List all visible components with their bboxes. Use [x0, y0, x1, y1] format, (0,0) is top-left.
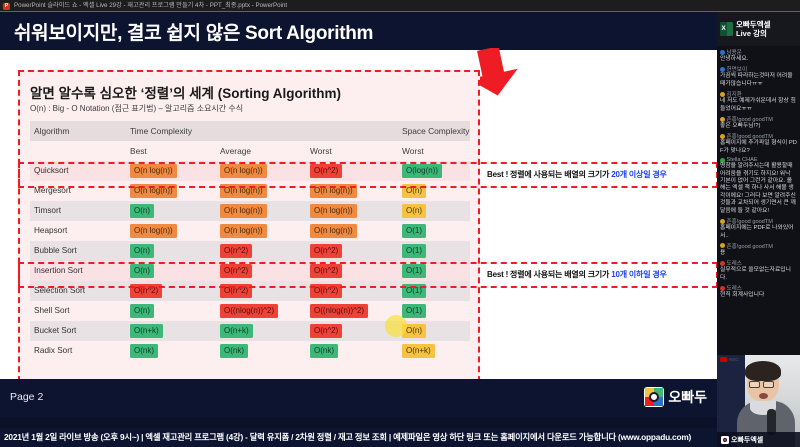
page-number: Page 2 [10, 391, 43, 403]
table-row: MergesortO(n log(n))O(n log(n))O(n log(n… [30, 181, 470, 201]
slide-stage: 쉬워보이지만, 결코 쉽지 않은 Sort Algorithm 알면 알수록 심… [0, 12, 717, 417]
cell-worst-chip: O(n log(n)) [310, 204, 357, 218]
cell-worst: O(n^2) [310, 321, 342, 341]
chat-badge-icon [720, 67, 725, 72]
brand-logo: 오빠두 [644, 387, 707, 407]
chat-message: 헌먼보이가끔씩 따라하는것마저 어려울때가많습니다ㅠㅠ [720, 65, 797, 88]
cell-space: O(n) [402, 201, 426, 221]
th-space-complexity: Space Complexity [402, 121, 470, 141]
cell-average: O(n^2) [220, 281, 252, 301]
table-row: Bubble SortO(n)O(n^2)O(n^2)O(1) [30, 241, 470, 261]
th-average: Average [220, 141, 251, 161]
cell-average: O(n log(n)) [220, 161, 267, 181]
cell-best-chip: O(n^2) [130, 284, 162, 298]
chat-text: 좋은 오빠두님!?) [720, 123, 797, 130]
cell-space: O(n) [402, 181, 426, 201]
cell-average: O(n log(n)) [220, 221, 267, 241]
cell-worst-chip: O(n log(n)) [310, 224, 357, 238]
chat-message: 존흥!good goodTM홈페이지에는 PDF로 나와있어서.. [720, 217, 797, 240]
cell-best: O(n) [130, 241, 154, 261]
table-row: HeapsortO(n log(n))O(n log(n))O(n log(n)… [30, 221, 470, 241]
cell-best: O(n) [130, 301, 154, 321]
cell-worst-chip: O(n^2) [310, 244, 342, 258]
chat-badge-icon [720, 286, 725, 291]
cell-algorithm: Insertion Sort [34, 261, 83, 281]
glasses-left-icon [749, 381, 760, 388]
powerpoint-icon: P [3, 3, 10, 10]
callout-1-highlight: 20개 이상일 경우 [611, 170, 667, 179]
cell-best-chip: O(n log(n)) [130, 184, 177, 198]
cell-best: O(n) [130, 261, 154, 281]
cell-algorithm: Heapsort [34, 221, 67, 241]
chat-message-list[interactable]: 남용운안녕하세요.헌먼보이가끔씩 따라하는것마저 어려울때가많습니다ㅠㅠ김지환네… [717, 46, 800, 300]
cell-space: O(log(n)) [402, 161, 442, 181]
cell-average-chip: O((nlog(n))^2) [220, 304, 278, 318]
cell-space-chip: O(1) [402, 264, 426, 278]
cell-worst: O(nk) [310, 341, 338, 361]
rec-label: REC [729, 357, 739, 362]
chat-badge-icon [720, 92, 725, 97]
webcam-watermark: 오빠두엑셀 [717, 432, 800, 447]
chat-message: 남용운안녕하세요. [720, 48, 797, 63]
cell-algorithm: Bubble Sort [34, 241, 77, 261]
chat-header: 오빠두엑셀 Live 강의 [717, 12, 800, 46]
chat-message: 도레스현직 회계사입니다 [720, 284, 797, 299]
chat-text: 실무적으로 쓸모없는자료입니다. [720, 267, 797, 282]
cell-average: O(nk) [220, 341, 248, 361]
callout-label-1: Best ! 정렬에 사용되는 배열의 크기가 20개 이상일 경우 [487, 169, 667, 180]
chat-username[interactable]: 존흥!good goodTM [727, 217, 773, 225]
cell-worst: O(n log(n)) [310, 201, 357, 221]
cell-space-chip: O(n) [402, 204, 426, 218]
callout-2-highlight: 10개 이하일 경우 [611, 270, 667, 279]
cell-best: O(nk) [130, 341, 158, 361]
callout-2-prefix: Best ! 정렬에 사용되는 배열의 크기가 [487, 270, 611, 279]
cell-average: O(n^2) [220, 241, 252, 261]
oppadu-watermark-icon [721, 436, 729, 444]
cell-best-chip: O(n+k) [130, 324, 163, 338]
cell-best-chip: O(n) [130, 244, 154, 258]
cell-space-chip: O(log(n)) [402, 164, 442, 178]
chat-text: 네 저도 예제가쉬운데서 항상 힘들었어요ㅠㅠ [720, 98, 797, 113]
cell-space-chip: O(1) [402, 244, 426, 258]
cell-best: O(n) [130, 201, 154, 221]
window-title: PowerPoint 슬라이드 쇼 - 엑셀 Live 29강 - 재고관리 프… [14, 2, 287, 9]
chat-badge-icon [720, 158, 725, 163]
cell-worst: O(n^2) [310, 241, 342, 261]
chat-badge-icon [720, 261, 725, 266]
watermark-text: 오빠두엑셀 [731, 435, 763, 445]
chat-badge-icon [720, 134, 725, 139]
cell-average-chip: O(n log(n)) [220, 204, 267, 218]
yellow-click-highlight [385, 315, 407, 337]
cell-best-chip: O(n) [130, 304, 154, 318]
cell-best: O(n+k) [130, 321, 163, 341]
cell-average-chip: O(n^2) [220, 244, 252, 258]
table-row: Radix SortO(nk)O(nk)O(nk)O(n+k) [30, 341, 470, 361]
chat-text: 홈페이지에는 PDF로 나와있어서.. [720, 225, 797, 240]
cell-best-chip: O(n) [130, 264, 154, 278]
cell-average-chip: O(n^2) [220, 284, 252, 298]
chat-text: 안녕하세요. [720, 56, 797, 63]
rec-dot-icon [720, 357, 727, 362]
chat-message-head: 존흥!good goodTM [720, 242, 797, 250]
cell-best-chip: O(n log(n)) [130, 164, 177, 178]
table-header-sub: Best Average Worst Worst [30, 141, 470, 161]
cell-space: O(1) [402, 301, 426, 321]
chat-message: 존흥!good goodTM홈페이지에 추가파일 형식이 PDF가 맞나요? [720, 132, 797, 155]
card-title: 알면 알수록 심오한 ‘정렬’의 세계 (Sorting Algorithm) [30, 82, 341, 102]
brand-name: 오빠두 [668, 387, 707, 407]
chat-header-title: 오빠두엑셀 Live 강의 [736, 20, 771, 38]
chat-badge-icon [720, 50, 725, 55]
cell-space: O(n+k) [402, 341, 435, 361]
th-space-worst: Worst [402, 141, 424, 161]
chat-badge-icon [720, 219, 725, 224]
cell-average-chip: O(n log(n)) [220, 224, 267, 238]
cell-algorithm: Bucket Sort [34, 321, 76, 341]
chat-text: 현직 회계사입니다 [720, 292, 797, 299]
content-card: 알면 알수록 심오한 ‘정렬’의 세계 (Sorting Algorithm) … [18, 70, 480, 392]
table-header-main: Algorithm Time Complexity Space Complexi… [30, 121, 470, 141]
excel-icon [720, 22, 733, 36]
slide-title: 쉬워보이지만, 결코 쉽지 않은 Sort Algorithm [14, 18, 373, 45]
chat-header-line1: 오빠두엑셀 [736, 20, 771, 29]
chat-text: 가끔씩 따라하는것마저 어려울때가많습니다ㅠㅠ [720, 73, 797, 88]
cell-worst: O(n^2) [310, 161, 342, 181]
chat-text: 홈페이지에 추가파일 형식이 PDF가 맞나요? [720, 140, 797, 155]
cell-average: O(n log(n)) [220, 201, 267, 221]
chat-message: 도레스실무적으로 쓸모없는자료입니다. [720, 259, 797, 282]
chat-username[interactable]: 존흥!good goodTM [727, 115, 773, 123]
slide-header: 쉬워보이지만, 결코 쉽지 않은 Sort Algorithm [0, 12, 717, 50]
chat-message-head: 남용운 [720, 48, 797, 56]
th-algorithm: Algorithm [34, 121, 69, 141]
card-subtitle: O(n) : Big - O Notation (점근 표기법) – 알고리즘 … [30, 103, 243, 114]
cell-best: O(n^2) [130, 281, 162, 301]
chat-message-head: 존흥!good goodTM [720, 115, 797, 123]
cell-average: O(n^2) [220, 261, 252, 281]
cell-best: O(n log(n)) [130, 221, 177, 241]
cell-worst-chip: O(n^2) [310, 324, 342, 338]
th-best: Best [130, 141, 147, 161]
cell-average-chip: O(n log(n)) [220, 164, 267, 178]
cell-worst: O(n^2) [310, 281, 342, 301]
cell-average-chip: O(n log(n)) [220, 184, 267, 198]
webcam-overlay[interactable]: REC 오빠두엑셀 [717, 355, 800, 447]
chat-text: 명함을 알려주시는데 활용할때 어려움을 겪기도 하지요! 워낙 기본이 없어 … [720, 163, 797, 215]
cell-worst-chip: O(n^2) [310, 164, 342, 178]
cell-space-chip: O(n+k) [402, 344, 435, 358]
table-row: Insertion SortO(n)O(n^2)O(n^2)O(1) [30, 261, 470, 281]
cell-space: O(1) [402, 281, 426, 301]
cell-algorithm: Quicksort [34, 161, 69, 181]
chat-username[interactable]: 존흥!good goodTM [727, 242, 773, 250]
table-row: Selection SortO(n^2)O(n^2)O(n^2)O(1) [30, 281, 470, 301]
cell-algorithm: Mergesort [34, 181, 71, 201]
cell-worst: O((nlog(n))^2) [310, 301, 368, 321]
chat-username[interactable]: 남용운 [727, 48, 742, 56]
chat-username[interactable]: 도레스 [727, 284, 742, 292]
cell-average-chip: O(n^2) [220, 264, 252, 278]
th-time-complexity: Time Complexity [130, 121, 192, 141]
cell-space-chip: O(1) [402, 284, 426, 298]
cell-algorithm: Radix Sort [34, 341, 72, 361]
slide-footer: Page 2 오빠두 [0, 379, 717, 417]
cell-algorithm: Timsort [34, 201, 61, 221]
chat-badge-icon [720, 243, 725, 248]
cell-worst-chip: O(n log(n)) [310, 184, 357, 198]
cell-best: O(n log(n)) [130, 161, 177, 181]
chat-badge-icon [720, 117, 725, 122]
chat-message-head: 존흥!good goodTM [720, 217, 797, 225]
table-row: TimsortO(n)O(n log(n))O(n log(n))O(n) [30, 201, 470, 221]
cell-average: O((nlog(n))^2) [220, 301, 278, 321]
chat-text: 용 [720, 250, 797, 257]
cell-space-chip: O(1) [402, 304, 426, 318]
cell-worst-chip: O(nk) [310, 344, 338, 358]
cell-best: O(n log(n)) [130, 181, 177, 201]
th-worst: Worst [310, 141, 332, 161]
cell-worst-chip: O((nlog(n))^2) [310, 304, 368, 318]
cell-space: O(1) [402, 261, 426, 281]
cell-worst: O(n^2) [310, 261, 342, 281]
cell-average-chip: O(nk) [220, 344, 248, 358]
cell-space-chip: O(n) [402, 184, 426, 198]
cell-space: O(1) [402, 221, 426, 241]
cell-best-chip: O(n log(n)) [130, 224, 177, 238]
cell-algorithm: Selection Sort [34, 281, 85, 301]
cell-average: O(n log(n)) [220, 181, 267, 201]
glasses-right-icon [763, 381, 774, 388]
cell-worst: O(n log(n)) [310, 221, 357, 241]
cell-average-chip: O(n+k) [220, 324, 253, 338]
cell-best-chip: O(nk) [130, 344, 158, 358]
chat-message-head: 도레스 [720, 284, 797, 292]
rec-indicator: REC [720, 357, 739, 362]
cell-worst: O(n log(n)) [310, 181, 357, 201]
callout-label-2: Best ! 정렬에 사용되는 배열의 크기가 10개 이하일 경우 [487, 269, 667, 280]
presenter-mouth [759, 393, 768, 399]
broadcast-caption: 2021년 1월 2일 라이브 방송 (오후 9시~) | 엑셀 재고관리 프로… [0, 428, 800, 447]
oppadu-mark-icon [644, 387, 664, 407]
chat-header-line2: Live 강의 [736, 29, 771, 38]
cell-best-chip: O(n) [130, 204, 154, 218]
cell-space-chip: O(1) [402, 224, 426, 238]
chat-message: 존흥!good goodTM용 [720, 242, 797, 257]
table-row: QuicksortO(n log(n))O(n log(n))O(n^2)O(l… [30, 161, 470, 181]
cell-worst-chip: O(n^2) [310, 264, 342, 278]
chat-message: 김지환네 저도 예제가쉬운데서 항상 힘들었어요ㅠㅠ [720, 90, 797, 113]
cell-worst-chip: O(n^2) [310, 284, 342, 298]
chat-message: Stella CHAE명함을 알려주시는데 활용할때 어려움을 겪기도 하지요!… [720, 157, 797, 215]
cell-algorithm: Shell Sort [34, 301, 70, 321]
chat-message: 존흥!good goodTM좋은 오빠두님!?) [720, 115, 797, 130]
presenter-hair [745, 361, 781, 381]
cell-space: O(1) [402, 241, 426, 261]
screen-root: P PowerPoint 슬라이드 쇼 - 엑셀 Live 29강 - 재고관리… [0, 0, 800, 447]
cell-average: O(n+k) [220, 321, 253, 341]
callout-1-prefix: Best ! 정렬에 사용되는 배열의 크기가 [487, 170, 611, 179]
